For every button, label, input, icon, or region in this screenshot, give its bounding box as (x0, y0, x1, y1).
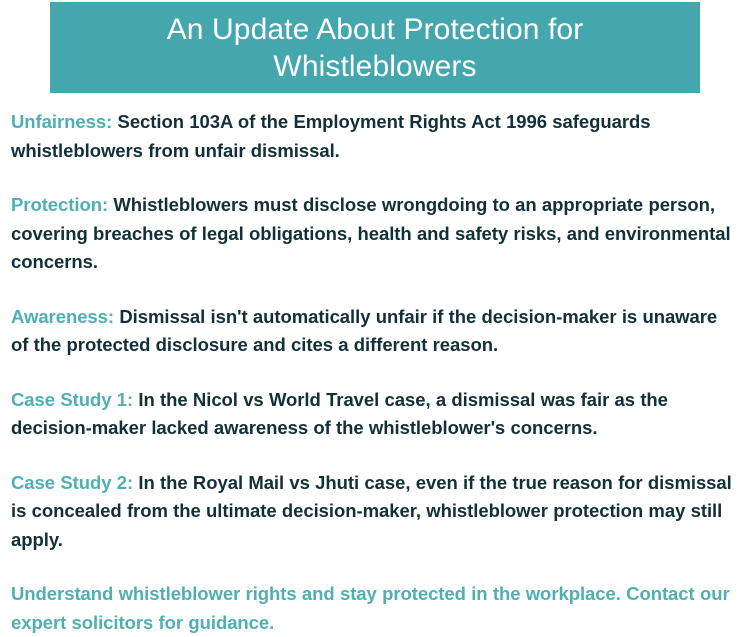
page-title: An Update About Protection for Whistlebl… (167, 11, 584, 85)
section-case-study-2: Case Study 2: In the Royal Mail vs Jhuti… (11, 469, 737, 555)
section-body-protection: Whistleblowers must disclose wrongdoing … (11, 194, 731, 272)
body-content: Unfairness: Section 103A of the Employme… (11, 108, 737, 637)
section-label-case-study-2: Case Study 2: (11, 472, 133, 493)
whistleblower-infographic: An Update About Protection for Whistlebl… (0, 0, 744, 631)
section-protection: Protection: Whistleblowers must disclose… (11, 191, 737, 277)
section-label-protection: Protection: (11, 194, 108, 215)
section-awareness: Awareness: Dismissal isn't automatically… (11, 303, 737, 360)
section-label-awareness: Awareness: (11, 306, 114, 327)
section-unfairness: Unfairness: Section 103A of the Employme… (11, 108, 737, 165)
section-body-awareness: Dismissal isn't automatically unfair if … (11, 306, 717, 356)
title-banner: An Update About Protection for Whistlebl… (50, 2, 700, 93)
call-to-action-text: Understand whistleblower rights and stay… (11, 580, 737, 637)
section-label-case-study-1: Case Study 1: (11, 389, 133, 410)
section-label-unfairness: Unfairness: (11, 111, 112, 132)
section-case-study-1: Case Study 1: In the Nicol vs World Trav… (11, 386, 737, 443)
